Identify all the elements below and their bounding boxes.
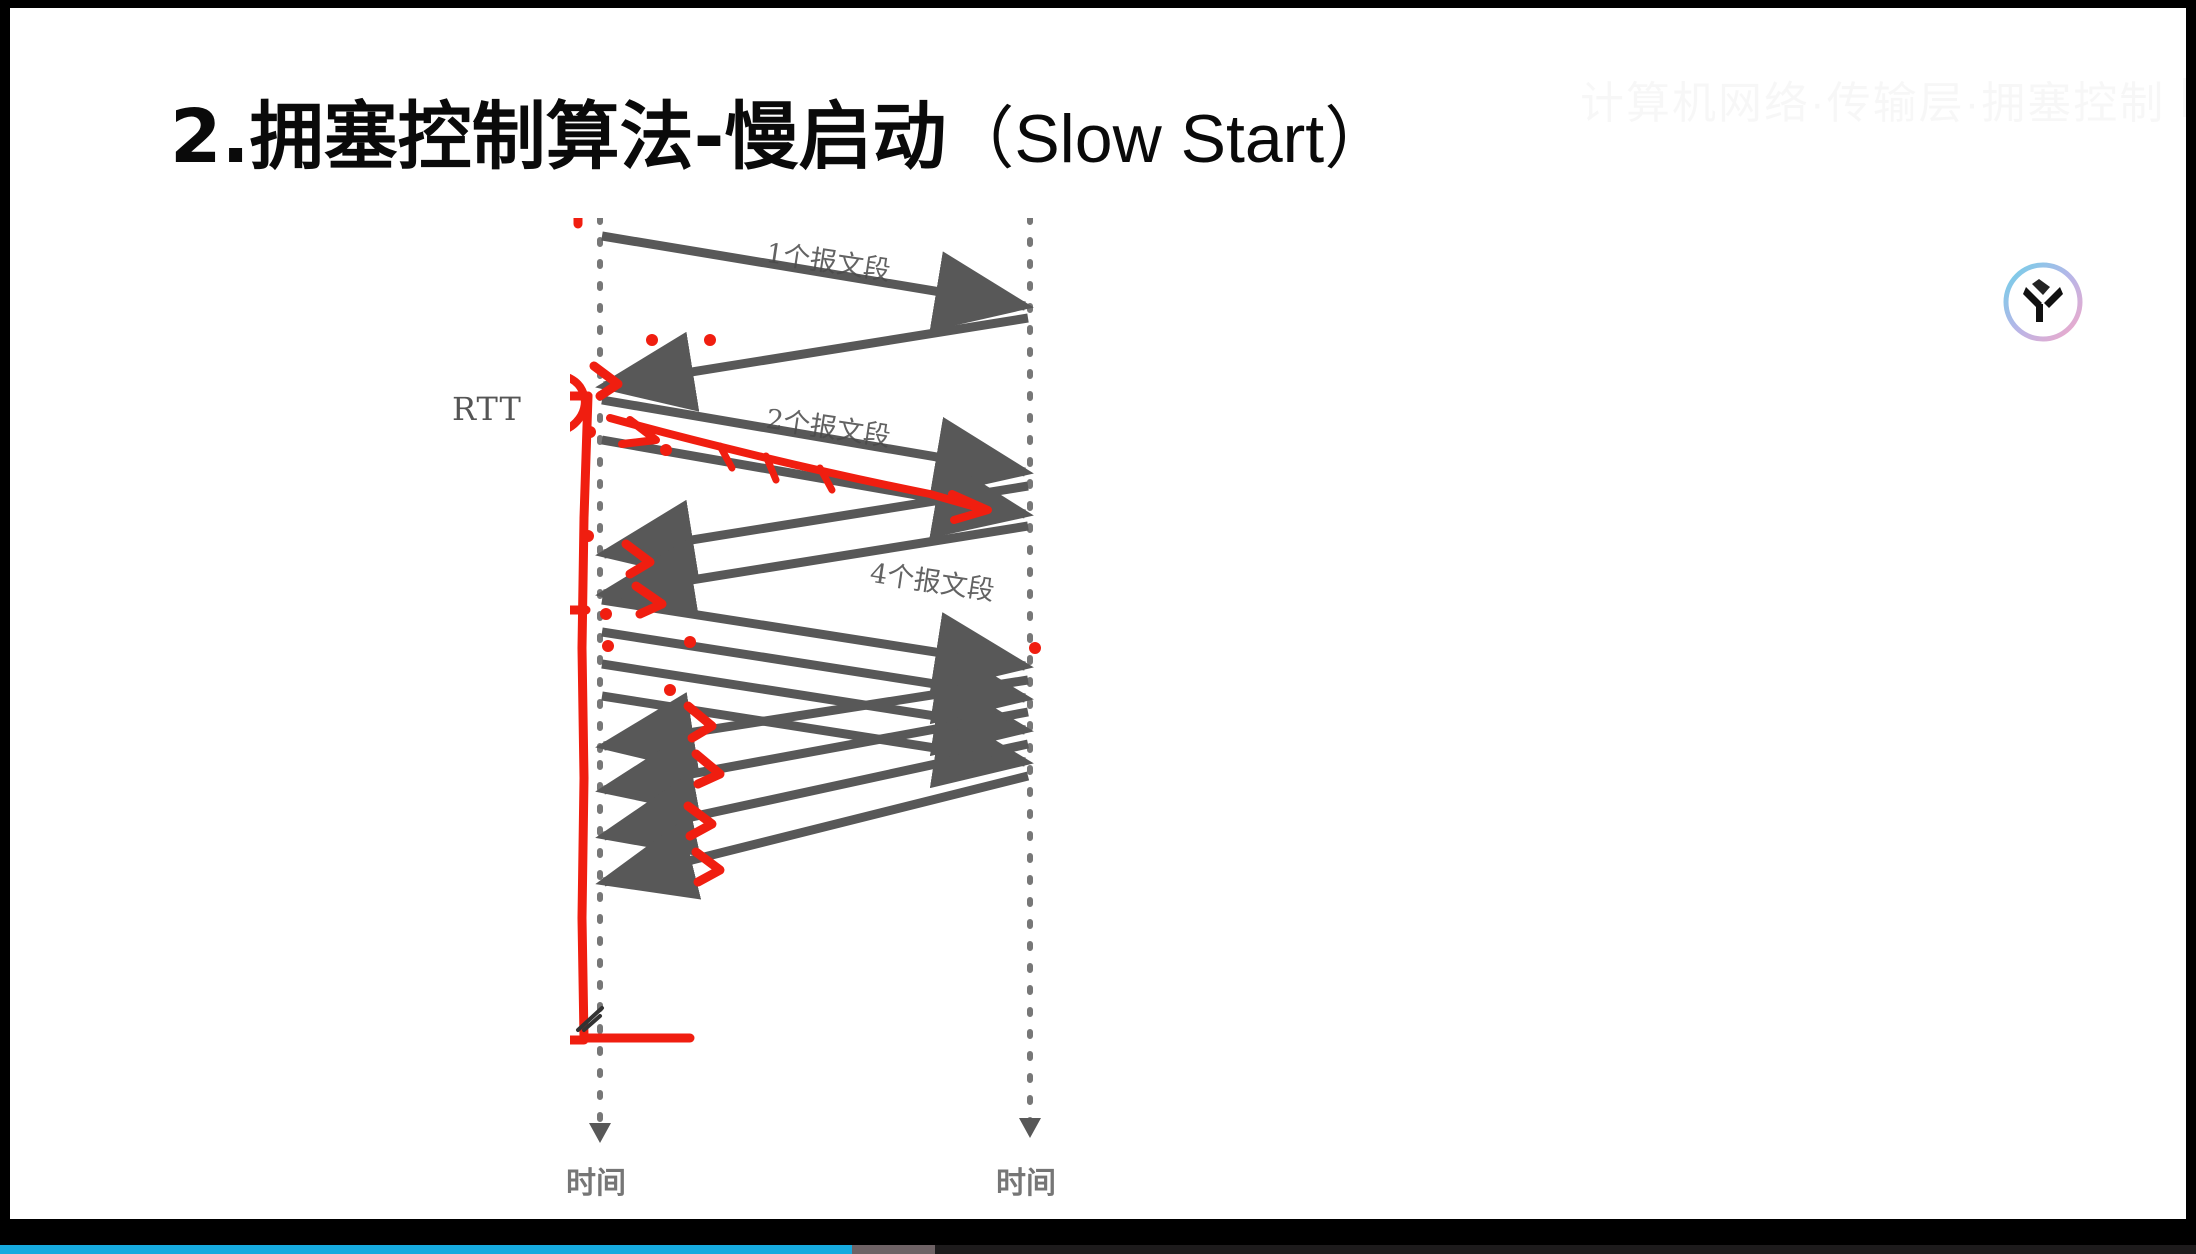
progress-bar-track[interactable] xyxy=(0,1245,2196,1254)
progress-bar-played xyxy=(0,1245,852,1254)
diagram-svg xyxy=(570,218,1690,1148)
player-control-bar[interactable] xyxy=(0,1219,2196,1254)
watermark-text: 计算机网络·传输层·拥塞控制 xyxy=(1580,67,2165,131)
channel-avatar-badge[interactable] xyxy=(1999,258,2087,346)
sender-axis-arrowhead xyxy=(589,1123,611,1143)
page-title-en: （Slow Start） xyxy=(946,101,1392,177)
receiver-time-label: 时间 xyxy=(996,1158,1056,1202)
slow-start-diagram: 1个报文段 2个报文段 4个报文段 RTT 时间 时间 xyxy=(570,218,1690,1148)
page-title: 2.拥塞控制算法-慢启动（Slow Start） xyxy=(170,100,1392,174)
page-title-cn: 2.拥塞控制算法-慢启动 xyxy=(170,94,946,180)
sender-time-label: 时间 xyxy=(566,1158,626,1202)
receiver-axis-arrowhead xyxy=(1019,1118,1041,1138)
bilibili-logo-watermark: bilibili xyxy=(2179,68,2186,130)
round-3-arrows xyxy=(602,600,1028,882)
channel-watermark: 计算机网络·传输层·拥塞控制 bilibili xyxy=(1580,66,2180,132)
rtt-label: RTT xyxy=(452,390,522,428)
badge-ring-icon xyxy=(1999,258,2087,346)
video-player[interactable]: 2.拥塞控制算法-慢启动（Slow Start） 计算机网络·传输层·拥塞控制 … xyxy=(0,0,2196,1254)
slide-canvas: 2.拥塞控制算法-慢启动（Slow Start） 计算机网络·传输层·拥塞控制 … xyxy=(10,8,2186,1219)
